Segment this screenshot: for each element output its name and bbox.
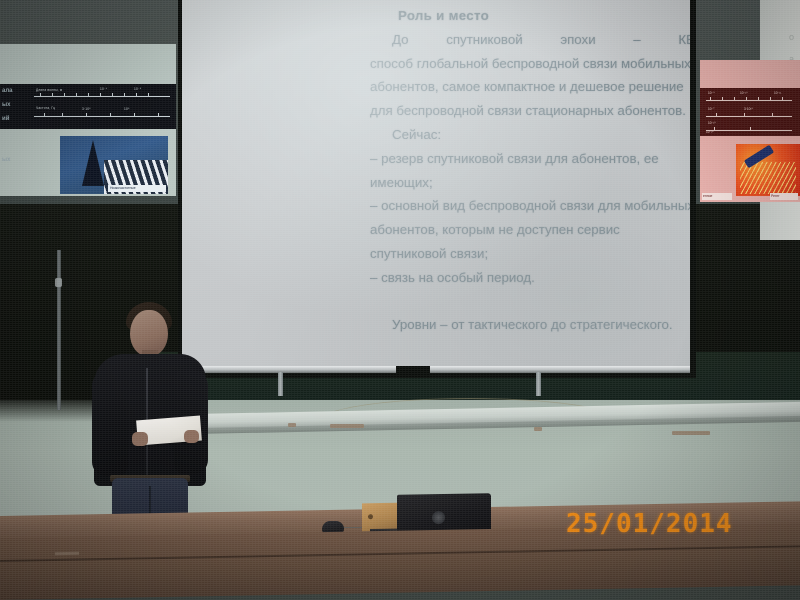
side-wall-text-1: о [789,30,794,45]
slide-line-6: – резерв спутниковой связи для абонентов… [370,147,690,171]
poster-left-side-text-3: ий [2,116,9,122]
presenter [88,296,216,528]
laptop-logo-icon [432,511,445,524]
slide-line-9: абонентов, которым не доступен сервис [370,218,690,242]
slide-line-1-w4: – [633,28,640,52]
desk-drawer-handle[interactable] [55,552,79,555]
poster-right-tick-2: 10⁻¹⁰ [740,91,748,95]
pointer-pole [57,250,61,410]
slide-line-1-w3: эпохи [560,28,595,52]
poster-right: 10⁻⁹ 10⁻¹⁰ 10⁻¹¹ 10⁻⁷ 3·10¹⁸ 10⁻¹⁹ 10⁻²⁰… [700,60,800,202]
poster-right-tick-5: 3·10¹⁸ [744,107,753,111]
slide-line-3: абонентов, самое компактное и дешевое ре… [370,75,690,99]
poster-left-tick-1: 10⁻⁴ [100,87,107,91]
poster-right-tick-1: 10⁻⁹ [708,91,715,95]
poster-left-caption-text: Низкочастотные [110,186,136,190]
poster-left-side-text-1: ала [2,88,13,94]
poster-right-label-left: енное [702,193,732,200]
chalk-piece-1 [288,423,296,427]
slide-line-10: спутниковой связи; [370,242,690,266]
poster-right-label-right: Рентг [770,193,798,200]
projection-screen: Роль и место До спутниковой эпохи – КВ –… [182,0,690,368]
slide-line-8: – основной вид беспроводной связи для мо… [370,194,690,218]
poster-left-side-text-2: ых [2,102,10,108]
presenter-arm-left [92,370,128,476]
slide-line-4: для беспроводной связи стационарных абон… [370,99,690,123]
power-pylon-icon [82,140,104,186]
slide-line-blank [370,290,690,314]
poster-left-tick-2: 10⁻⁸ [134,87,141,91]
slide-line-1: До спутниковой эпохи – КВ – единственный [370,28,690,52]
screen-bracket-right [536,372,541,396]
poster-right-tick-6: 10⁻¹⁹ [708,121,716,125]
chalk-piece-2 [330,424,364,428]
poster-left: Длина волны, м 10⁻⁴ 10⁻⁸ Частота, Гц 3·1… [0,44,176,196]
chalk-piece-3 [534,427,542,431]
photo-scene: о а д т ц Длина волны, м 10⁻⁴ 10⁻⁸ Часто… [0,0,800,600]
box-knob [368,514,373,519]
poster-right-tick-4: 10⁻⁷ [708,107,714,111]
poster-left-scale-label-1: Длина волны, м [36,88,62,92]
poster-left-tick-3: 3·10⁸ [82,107,91,111]
poster-left-side-text-4: ых [2,157,10,163]
screen-bracket-left [278,372,283,396]
slide-line-5: Сейчас: [370,123,690,147]
poster-left-photo: Низкочастотные [60,136,168,194]
slide-content: Роль и место До спутниковой эпохи – КВ –… [370,4,690,337]
slide-title: Роль и место [370,4,690,28]
chalk-piece-4 [672,431,710,435]
poster-right-label-right-text: Рентг [771,194,780,198]
poster-left-tick-4: 10⁹ [124,107,130,111]
poster-left-scale-label-2: Частота, Гц [36,106,55,110]
slide-line-7: имеющих; [370,171,690,195]
poster-right-tick-7: 10⁻²⁰ [706,130,714,134]
poster-right-tick-3: 10⁻¹¹ [774,91,781,95]
slide-line-11: – связь на особый период. [370,266,690,290]
poster-left-caption: Низкочастотные [108,185,166,192]
slide-line-1-w2: спутниковой [446,28,522,52]
poster-right-photo [736,144,800,196]
presenter-hand-right [184,430,199,443]
slide-line-1-w5: КВ [678,28,690,52]
presenter-hand-left [132,432,148,446]
slide-line-1-w1: До [392,28,409,52]
poster-right-label-left-text: енное [703,194,712,198]
camera-timestamp: 25/01/2014 [566,509,733,539]
pole-knob [55,278,62,287]
slide-line-2: способ глобальной беспроводной связи моб… [370,52,690,76]
screen-bottom-bar [182,366,690,373]
slide-line-13: Уровни – от тактического до стратегическ… [370,313,690,337]
